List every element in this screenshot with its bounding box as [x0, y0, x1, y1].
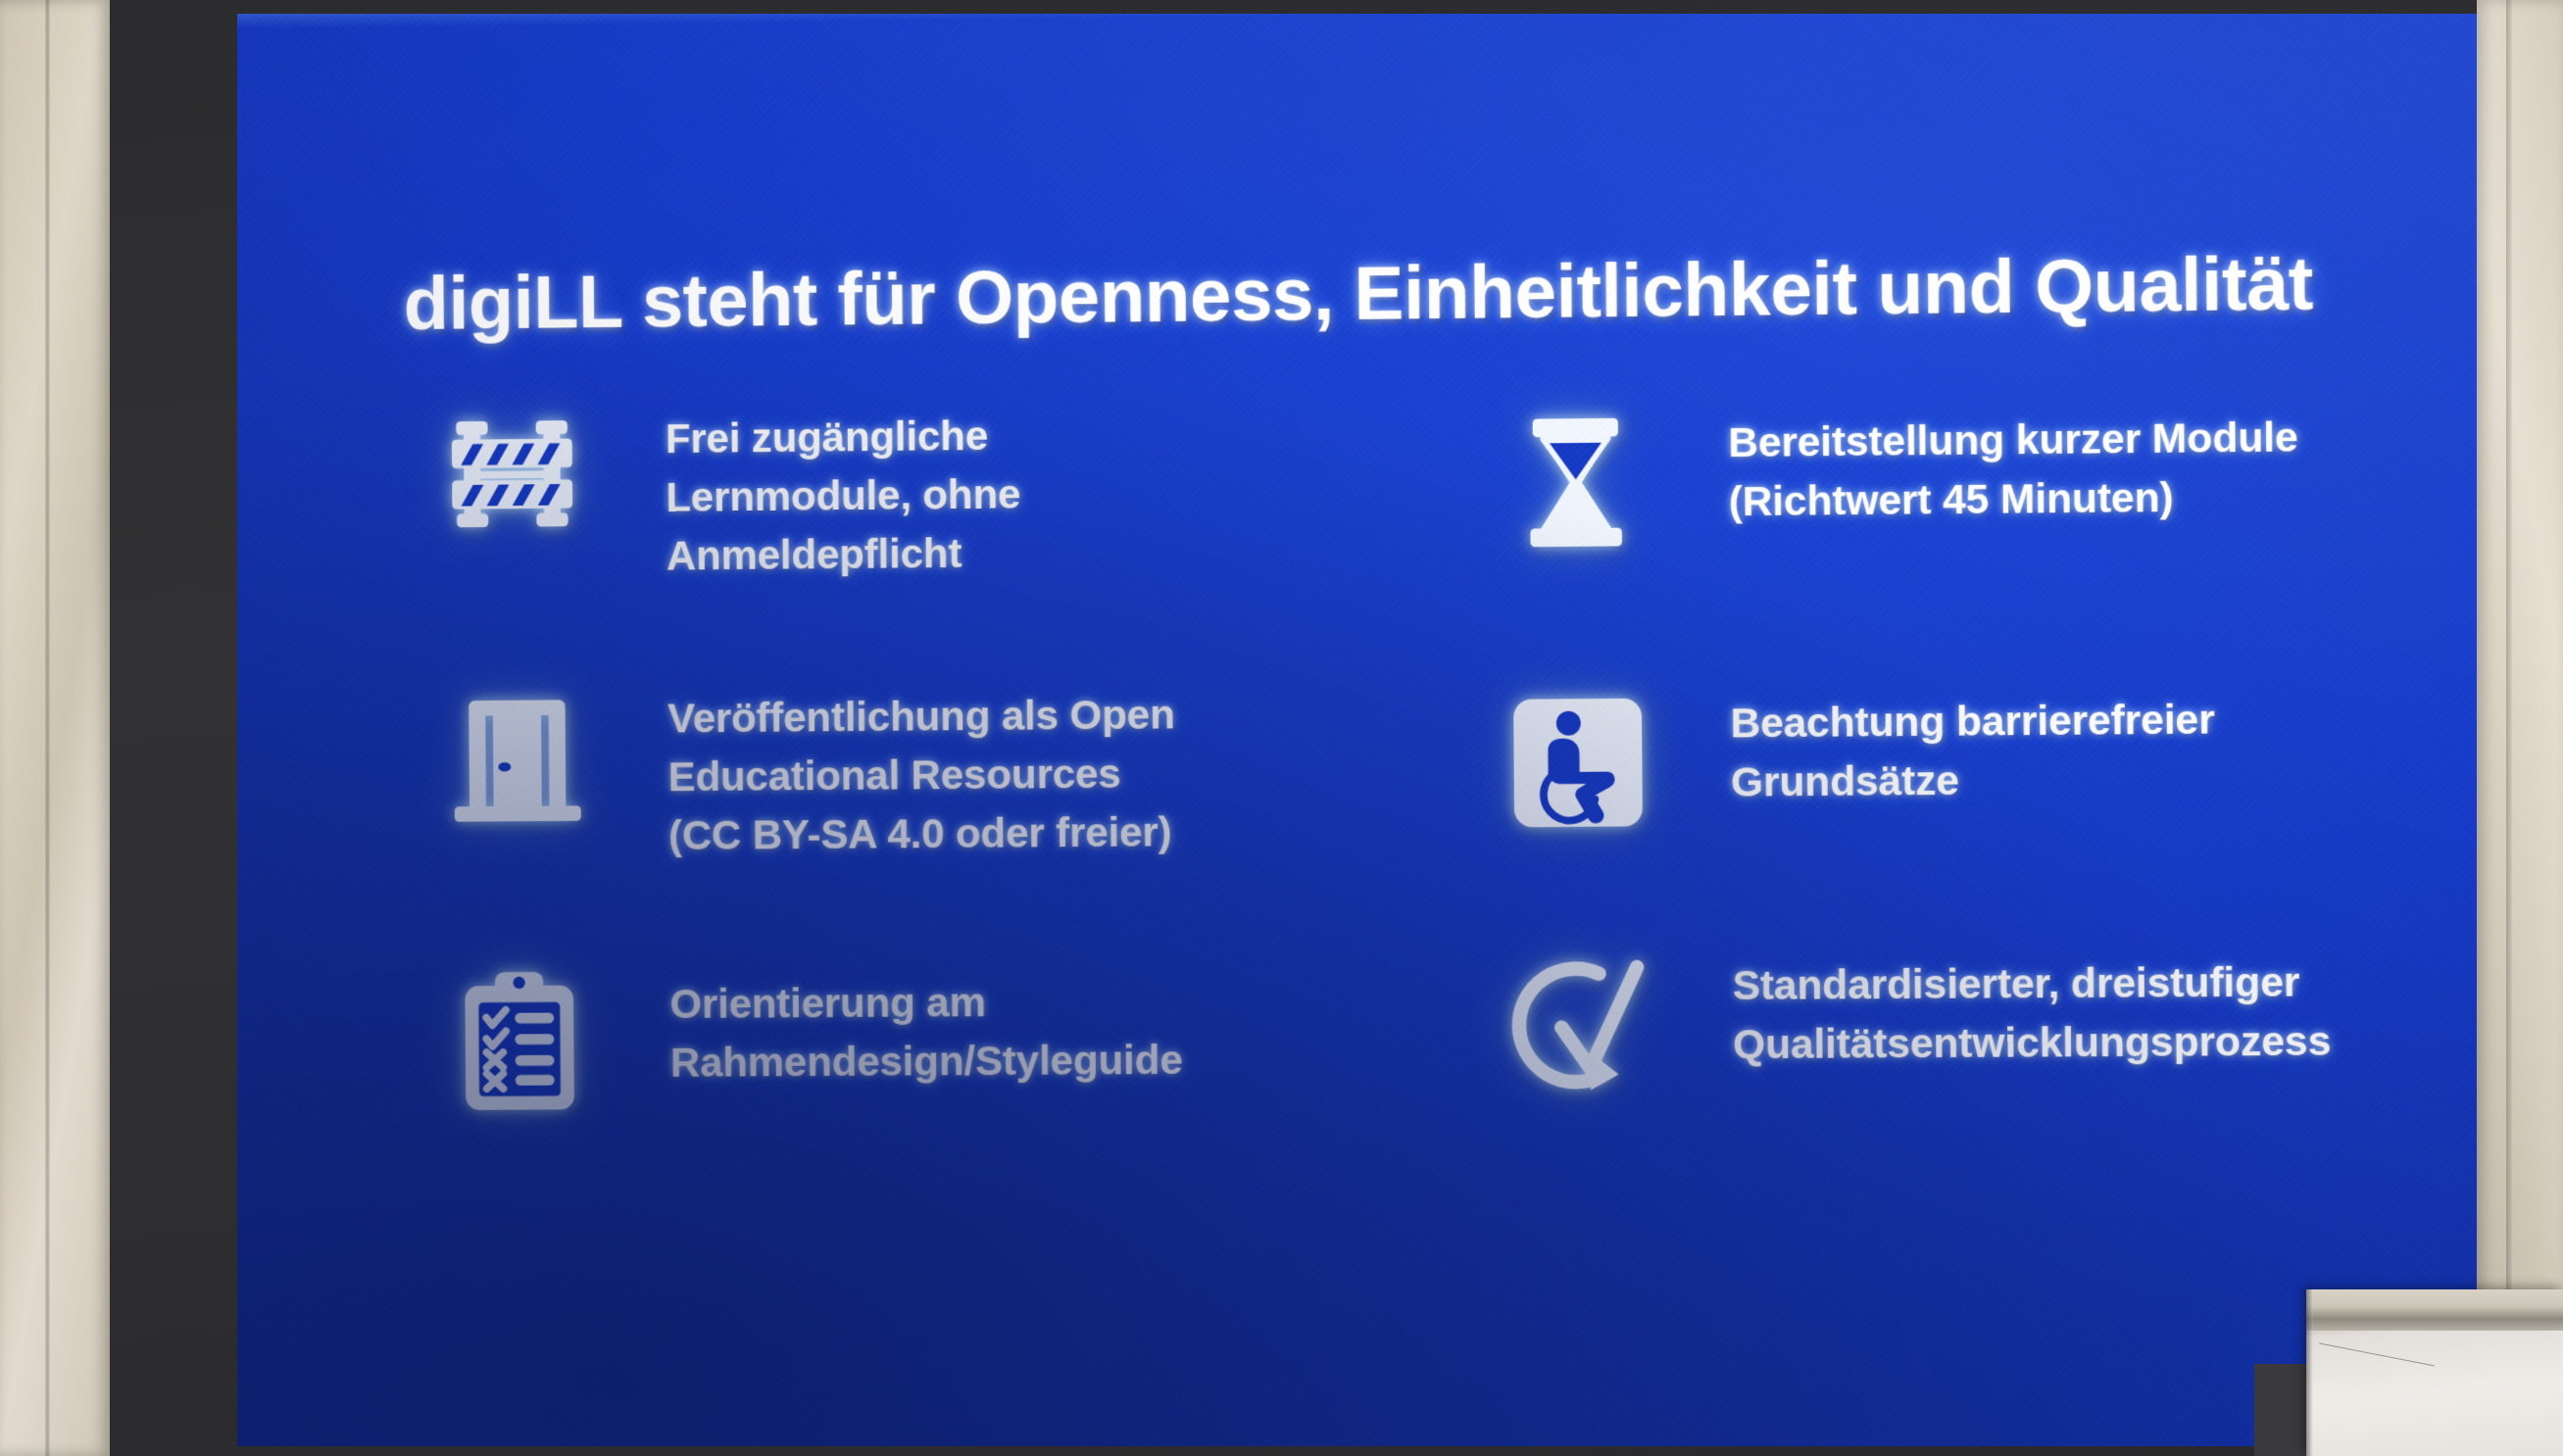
- feature-text-line: Orientierung am: [669, 971, 1182, 1033]
- feature-text: Beachtung barrierefreier Grundsätze: [1730, 681, 2215, 811]
- feature-item-open-access: Frei zugängliche Lernmodule, ohne Anmeld…: [365, 394, 1424, 606]
- wall-right-seam: [2506, 0, 2512, 1456]
- page-title: digiLL steht für Openness, Einheitlichke…: [403, 242, 2434, 343]
- cycle-check-icon: [1427, 947, 1734, 1152]
- wheelchair-accessibility-icon: [1425, 686, 1732, 892]
- flipchart-edge: [2306, 1289, 2313, 1456]
- feature-text-line: (Richtwert 45 Minuten): [1728, 466, 2298, 531]
- flipchart-top-rail: [2306, 1289, 2563, 1331]
- feature-column-left: Frei zugängliche Lernmodule, ohne Anmeld…: [365, 394, 1423, 405]
- wall-left: [0, 0, 110, 1456]
- feature-grid: Frei zugängliche Lernmodule, ohne Anmeld…: [237, 382, 2487, 406]
- feature-text-line: Anmeldepflicht: [666, 523, 1021, 585]
- feature-text: Veröffentlichung als Open Educational Re…: [667, 677, 1176, 865]
- feature-item-styleguide: Orientierung am Rahmendesign/Styleguide: [369, 962, 1429, 1171]
- feature-text-line: Educational Resources: [667, 744, 1175, 806]
- feature-text: Orientierung am Rahmendesign/Styleguide: [669, 963, 1183, 1092]
- feature-text-line: Veröffentlichung als Open: [667, 685, 1175, 748]
- feature-text-line: Grundsätze: [1731, 749, 2216, 811]
- feature-item-accessibility: Beachtung barrierefreier Grundsätze: [1425, 679, 2487, 891]
- photo-scene: digiLL steht für Openness, Einheitlichke…: [0, 0, 2563, 1456]
- feature-text-line: Standardisierter, dreistufiger: [1732, 952, 2331, 1015]
- feature-text: Frei zugängliche Lernmodule, ohne Anmeld…: [665, 398, 1021, 586]
- barrier-icon: [365, 402, 667, 607]
- feature-text-line: Qualitätsentwicklungsprozess: [1733, 1011, 2332, 1074]
- feature-text-line: Rahmendesign/Styleguide: [670, 1031, 1183, 1092]
- screen-frame-sliver: [2254, 1364, 2309, 1456]
- open-door-icon: [367, 681, 669, 885]
- feature-item-module-length: Bereitstellung kurzer Module (Richtwert …: [1423, 397, 2487, 610]
- projection-top-glow: [237, 14, 2487, 29]
- feature-text-line: (CC BY-SA 4.0 oder freier): [668, 802, 1176, 865]
- feature-text-line: Lernmodule, ohne: [665, 464, 1020, 526]
- feature-column-right: Bereitstellung kurzer Module (Richtwert …: [1423, 383, 2487, 394]
- feature-text: Bereitstellung kurzer Module (Richtwert …: [1728, 399, 2298, 531]
- wall-left-seam: [45, 0, 50, 1456]
- flipchart-board: [2306, 1289, 2563, 1456]
- feature-text-line: Frei zugängliche: [665, 406, 1020, 468]
- wall-right: [2477, 0, 2563, 1456]
- feature-text: Standardisierter, dreistufiger Qualitäts…: [1732, 944, 2331, 1074]
- feature-text-line: Bereitstellung kurzer Module: [1728, 408, 2298, 472]
- projection-screen-frame: digiLL steht für Openness, Einheitlichke…: [102, 0, 2484, 1456]
- presentation-slide: digiLL steht für Openness, Einheitlichke…: [237, 14, 2487, 1446]
- feature-text-line: Beachtung barrierefreier: [1730, 690, 2215, 752]
- feature-item-quality-process: Standardisierter, dreistufiger Qualitäts…: [1427, 943, 2487, 1152]
- hourglass-icon: [1423, 405, 1730, 610]
- clipboard-checklist-icon: [369, 966, 671, 1170]
- flipchart-paper-crease: [2319, 1343, 2435, 1367]
- feature-item-oer-license: Veröffentlichung als Open Educational Re…: [367, 675, 1427, 886]
